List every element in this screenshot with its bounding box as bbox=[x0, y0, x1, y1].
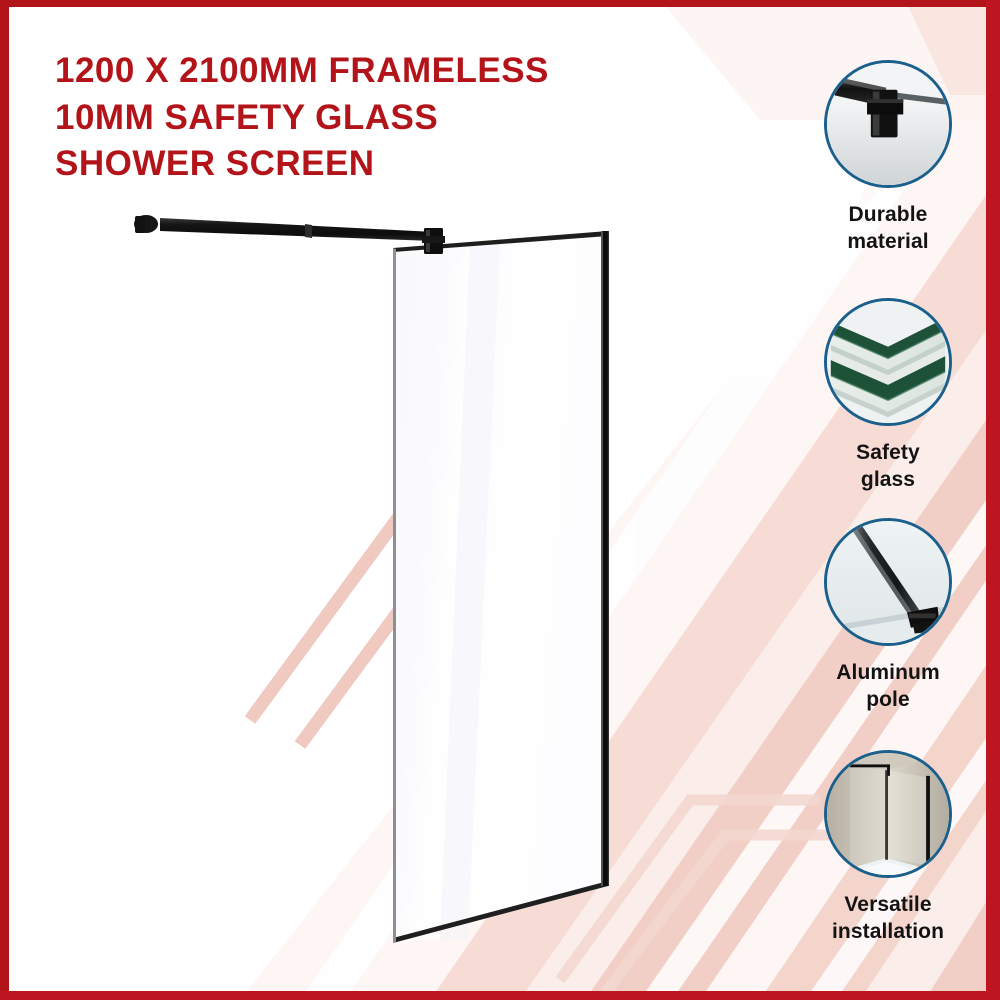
feature-badge-circle bbox=[824, 298, 952, 426]
feature-item-safety-glass[interactable]: Safety glass bbox=[790, 298, 986, 493]
pole-wall-plate bbox=[135, 216, 145, 233]
frame-border-bottom bbox=[0, 991, 1000, 1000]
feature-label-line-1: Versatile bbox=[790, 892, 986, 919]
title-line-1: 1200 x 2100mm Frameless bbox=[55, 48, 675, 95]
feature-label-line-2: pole bbox=[790, 687, 986, 714]
feature-label-line-1: Aluminum bbox=[790, 660, 986, 687]
diagonal-pole-icon bbox=[827, 521, 949, 643]
title-line-2: 10mm Safety Glass bbox=[55, 95, 675, 142]
feature-item-durable-material[interactable]: Durable material bbox=[790, 60, 986, 255]
feature-item-aluminum-pole[interactable]: Aluminum pole bbox=[790, 518, 986, 713]
wall-profile-right-highlight bbox=[601, 231, 603, 886]
glass-clamp-collar bbox=[422, 236, 445, 243]
feature-label-line-1: Safety bbox=[790, 440, 986, 467]
feature-label: Durable material bbox=[790, 202, 986, 255]
feature-badge-circle bbox=[824, 750, 952, 878]
feature-label-line-2: glass bbox=[790, 467, 986, 494]
frame-border-left bbox=[0, 0, 9, 1000]
product-image-canvas: 1200 x 2100mm Frameless 10mm Safety Glas… bbox=[0, 0, 1000, 1000]
bracket-clamp-icon bbox=[827, 63, 949, 185]
title-line-3: Shower Screen bbox=[55, 141, 675, 188]
feature-label: Aluminum pole bbox=[790, 660, 986, 713]
pole-telescopic-joint bbox=[305, 224, 312, 238]
shower-enclosure-icon bbox=[827, 753, 949, 875]
support-pole bbox=[160, 218, 434, 241]
feature-badge-circle bbox=[824, 518, 952, 646]
frame-border-right bbox=[986, 0, 1000, 1000]
feature-item-versatile-installation[interactable]: Versatile installation bbox=[790, 750, 986, 945]
frame-border-top bbox=[0, 0, 1000, 7]
laminated-glass-layers-icon bbox=[827, 301, 949, 423]
feature-badge-circle bbox=[824, 60, 952, 188]
feature-label-line-1: Durable bbox=[790, 202, 986, 229]
feature-label: Versatile installation bbox=[790, 892, 986, 945]
glass-left-edge bbox=[393, 248, 396, 943]
page-title: 1200 x 2100mm Frameless 10mm Safety Glas… bbox=[55, 48, 675, 188]
feature-label: Safety glass bbox=[790, 440, 986, 493]
feature-label-line-2: material bbox=[790, 229, 986, 256]
feature-label-line-2: installation bbox=[790, 919, 986, 946]
